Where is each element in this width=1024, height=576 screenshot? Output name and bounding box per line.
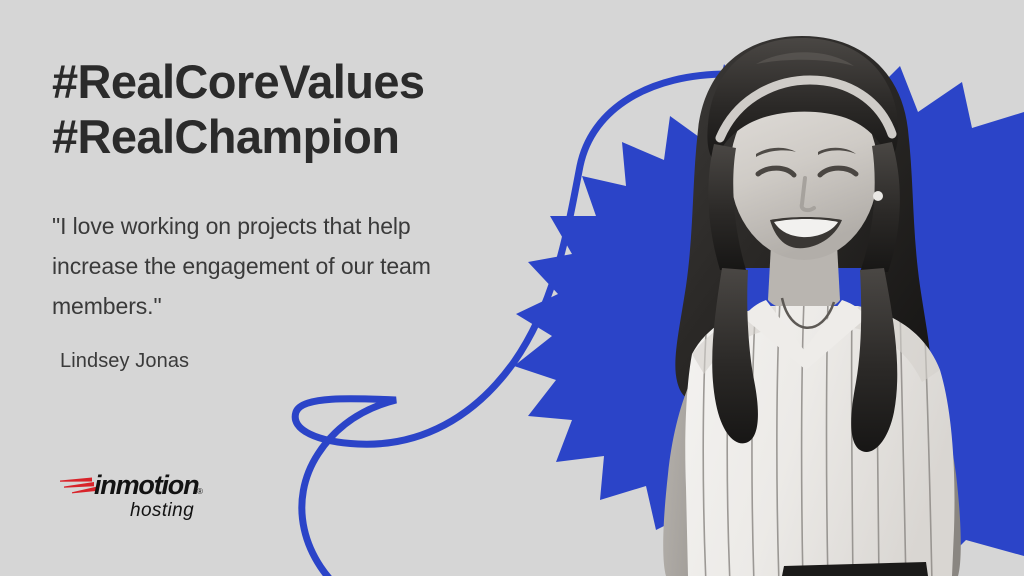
earring (873, 191, 883, 201)
inmotion-hosting-logo[interactable]: inmotion ® hosting (58, 464, 218, 528)
quote-text: "I love working on projects that help in… (52, 207, 482, 326)
logo-tagline: hosting (130, 500, 194, 521)
speed-streaks-icon (60, 478, 96, 494)
promo-card: #RealCoreValues #RealChampion "I love wo… (0, 0, 1024, 576)
registered-mark: ® (197, 487, 203, 496)
logo-wordmark: inmotion (94, 470, 199, 500)
page-title: #RealCoreValues #RealChampion (52, 55, 572, 164)
attribution-name: Lindsey Jonas (60, 350, 189, 373)
portrait-photo (596, 18, 1016, 576)
